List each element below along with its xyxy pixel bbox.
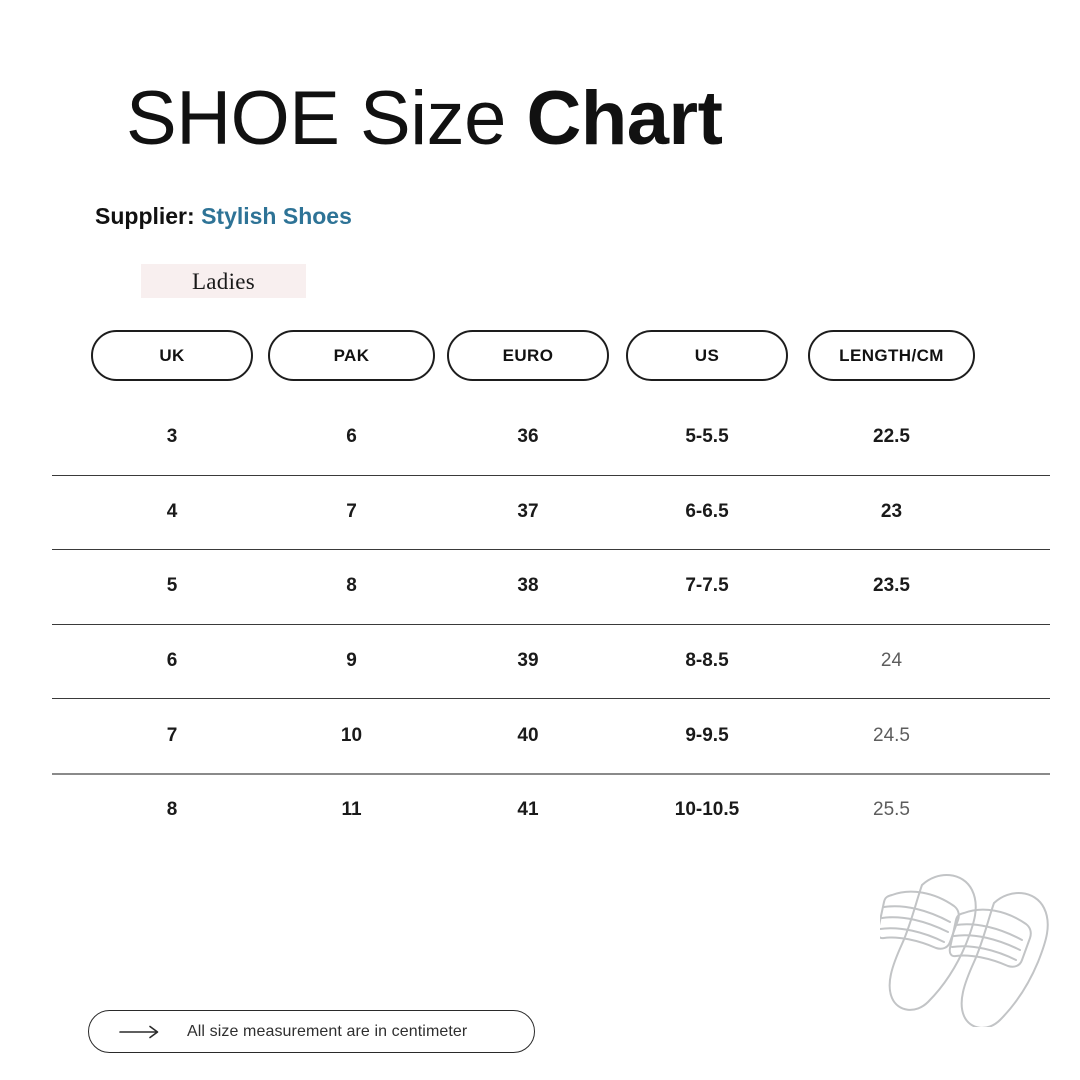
column-header-length-cm: LENGTH/CM [808,330,975,381]
cell-uk: 7 [91,698,253,773]
cell-euro: 37 [447,475,609,550]
footnote-pill: All size measurement are in centimeter [88,1010,535,1053]
cell-euro: 39 [447,624,609,699]
cell-euro: 38 [447,549,609,624]
category-badge-label: Ladies [192,268,255,295]
column-header-pak: PAK [268,330,435,381]
column-header-us: US [626,330,788,381]
cell-euro: 40 [447,698,609,773]
column-header-uk: UK [91,330,253,381]
supplier-label: Supplier: [95,203,201,229]
column-header-uk-label: UK [159,346,184,366]
cell-us: 7-7.5 [626,549,788,624]
cell-length-cm: 23 [808,475,975,550]
column-header-us-label: US [695,346,719,366]
cell-pak: 8 [268,549,435,624]
cell-length-cm: 24.5 [808,698,975,773]
column-header-euro: EURO [447,330,609,381]
cell-length-cm: 24 [808,624,975,699]
cell-pak: 6 [268,400,435,475]
cell-uk: 5 [91,549,253,624]
table-row: 4 7 37 6-6.5 23 [0,475,1080,550]
table-body: 3 6 36 5-5.5 22.5 4 7 37 6-6.5 23 5 8 38… [0,400,1080,848]
table-row: 3 6 36 5-5.5 22.5 [0,400,1080,475]
table-row: 7 10 40 9-9.5 24.5 [0,698,1080,773]
cell-uk: 8 [91,773,253,848]
footnote-text: All size measurement are in centimeter [187,1023,467,1041]
cell-length-cm: 25.5 [808,773,975,848]
cell-uk: 4 [91,475,253,550]
cell-length-cm: 22.5 [808,400,975,475]
supplier-name: Stylish Shoes [201,203,352,229]
page-title-bold: Chart [526,76,722,161]
table-row: 5 8 38 7-7.5 23.5 [0,549,1080,624]
column-header-euro-label: EURO [503,346,554,366]
table-row: 8 11 41 10-10.5 25.5 [0,773,1080,848]
slide-sandals-illustration [880,862,1055,1027]
cell-us: 5-5.5 [626,400,788,475]
category-badge-ladies: Ladies [141,264,306,298]
table-row: 6 9 39 8-8.5 24 [0,624,1080,699]
cell-pak: 7 [268,475,435,550]
shoe-size-chart-page: SHOE Size Chart Supplier: Stylish Shoes … [0,0,1080,1080]
cell-euro: 41 [447,773,609,848]
table-header-row: UK PAK EURO US LENGTH/CM [0,330,1080,381]
cell-us: 8-8.5 [626,624,788,699]
cell-uk: 6 [91,624,253,699]
cell-pak: 10 [268,698,435,773]
page-title-light: SHOE Size [126,76,526,161]
cell-uk: 3 [91,400,253,475]
column-header-length-cm-label: LENGTH/CM [839,346,944,366]
cell-pak: 9 [268,624,435,699]
column-header-pak-label: PAK [334,346,370,366]
page-title: SHOE Size Chart [126,73,722,165]
cell-us: 6-6.5 [626,475,788,550]
slide-sandals-icon [880,862,1055,1027]
cell-length-cm: 23.5 [808,549,975,624]
supplier-line: Supplier: Stylish Shoes [95,201,352,231]
cell-pak: 11 [268,773,435,848]
arrow-right-icon [119,1025,163,1039]
cell-us: 9-9.5 [626,698,788,773]
cell-euro: 36 [447,400,609,475]
cell-us: 10-10.5 [626,773,788,848]
